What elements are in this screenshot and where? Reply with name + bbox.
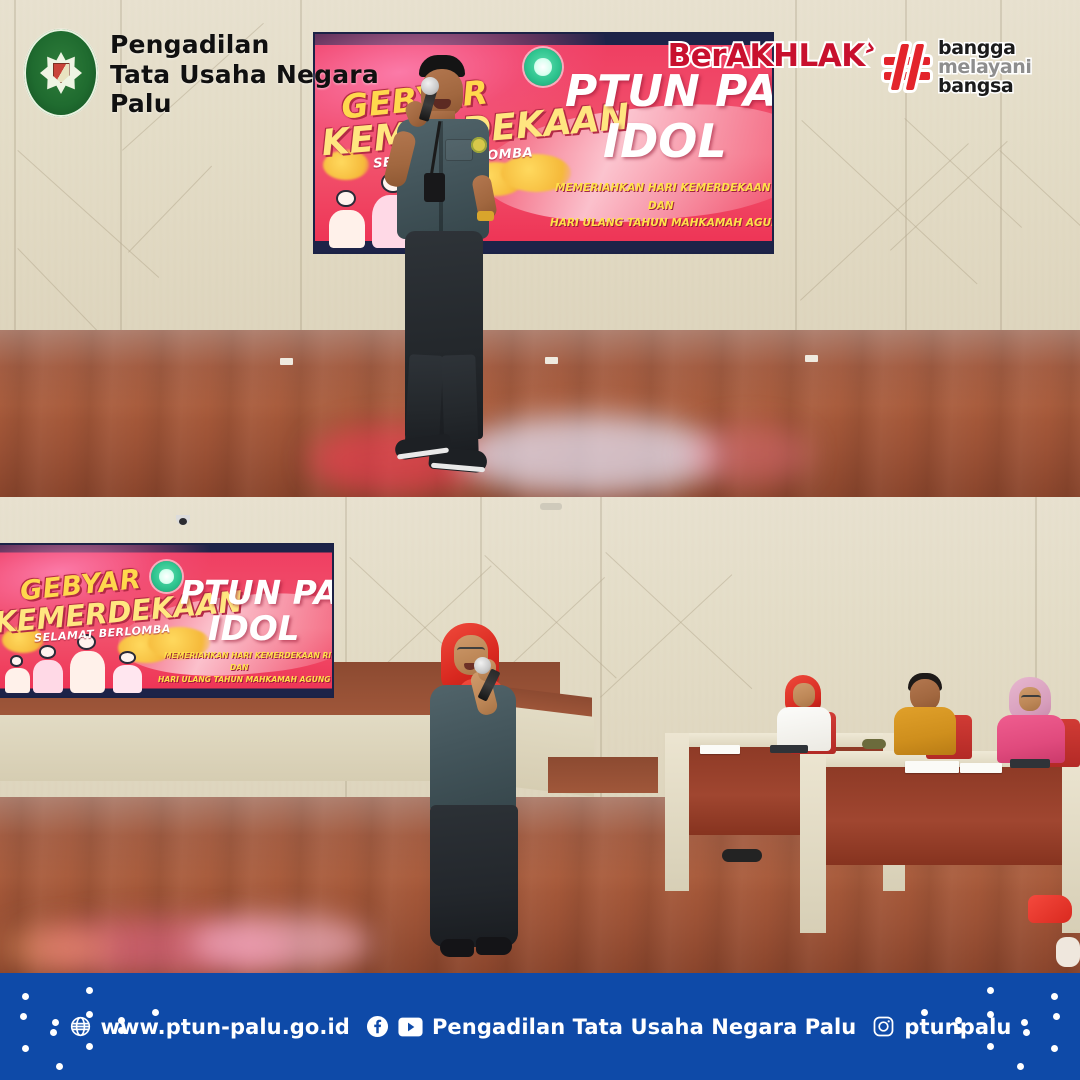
globe-icon — [69, 1015, 92, 1038]
banner-event-line1-2: PTUN PALU — [180, 573, 334, 612]
seated-person-edge — [1056, 937, 1080, 967]
desk-tablet-1 — [770, 745, 808, 753]
banner-footer-line3: HARI ULANG TAHUN MAHKAMAH AGUNG RI KE 79 — [550, 217, 774, 229]
bangga-melayani-bangsa-logo: bangga melayani bangsa — [884, 32, 1062, 102]
footer-bar: www.ptun-palu.go.id Pengadilan Tata Usah… — [0, 973, 1080, 1080]
banner-footer-line2: DAN — [648, 200, 674, 212]
banner-footer-line1-2: MEMERIAHKAN HARI KEMERDEKAAN RI KE 79 — [164, 651, 334, 660]
hashtag-icon — [884, 44, 930, 90]
instagram-icon — [872, 1015, 895, 1038]
hall-background-bottom: GEBYAR KEMERDEKAAN SELAMAT BERLOMBA PTUN… — [0, 497, 1080, 973]
desk-tablet-2 — [1010, 759, 1050, 768]
desk-paper-2 — [905, 761, 959, 773]
desk-paper-1 — [700, 745, 740, 754]
female-singer-figure — [418, 623, 526, 965]
desk-paper-3 — [960, 763, 1002, 773]
stage-ramp — [548, 757, 658, 793]
red-bag — [1028, 895, 1072, 923]
judge-1-figure — [773, 675, 835, 751]
org-line-3: Palu — [110, 89, 379, 119]
youtube-icon — [398, 1017, 423, 1037]
shoes-under-desk — [722, 849, 762, 862]
footer-social-group[interactable]: Pengadilan Tata Usaha Negara Palu — [366, 1015, 856, 1039]
poster-canvas: GEBYAR KEMERDEKAAN SELAMAT BERLOMBA PTUN… — [0, 0, 1080, 1080]
bangga-line-3: bangsa — [938, 77, 1031, 96]
led-banner-bottom: GEBYAR KEMERDEKAAN SELAMAT BERLOMBA PTUN… — [0, 543, 334, 698]
bangga-line-1: bangga — [938, 39, 1031, 58]
footer-instagram-group[interactable]: ptunpalu — [872, 1015, 1011, 1039]
footer-social-text: Pengadilan Tata Usaha Negara Palu — [432, 1015, 856, 1039]
banner-emblem-icon-2 — [151, 561, 182, 592]
uniform-blazer — [430, 685, 516, 813]
judge-3-figure — [995, 677, 1067, 763]
berakhlak-tick-icon: › — [861, 32, 879, 64]
court-seal-logo — [24, 29, 98, 117]
header-overlay: Pengadilan Tata Usaha Negara Palu BerAKH… — [0, 0, 1080, 140]
org-line-2: Tata Usaha Negara — [110, 60, 379, 90]
page-title: Pengadilan Tata Usaha Negara Palu — [110, 30, 379, 119]
desk-mic-stand — [862, 739, 886, 749]
photo-bottom: GEBYAR KEMERDEKAAN SELAMAT BERLOMBA PTUN… — [0, 497, 1080, 973]
banner-footer-line3-2: HARI ULANG TAHUN MAHKAMAH AGUNG RI KE 79 — [158, 675, 334, 684]
footer-website-text: www.ptun-palu.go.id — [101, 1015, 350, 1039]
footer-website-group[interactable]: www.ptun-palu.go.id — [69, 1015, 350, 1039]
bangga-line-2: melayani — [938, 58, 1031, 77]
footer-content: www.ptun-palu.go.id Pengadilan Tata Usah… — [0, 973, 1080, 1080]
banner-footer-line2-2: DAN — [230, 663, 249, 672]
banner-event-line2-2: IDOL — [208, 609, 299, 649]
judge-2-figure — [890, 673, 960, 755]
berakhlak-logo: BerAKHLAK› — [668, 38, 875, 74]
banner-footer-line1: MEMERIAHKAN HARI KEMERDEKAAN RI KE 79 — [555, 182, 774, 194]
facebook-icon — [366, 1015, 389, 1038]
floor-top — [0, 330, 1080, 497]
long-skirt — [430, 805, 518, 947]
org-line-1: Pengadilan — [110, 30, 379, 60]
berakhlak-label: BerAKHLAK — [668, 38, 865, 74]
